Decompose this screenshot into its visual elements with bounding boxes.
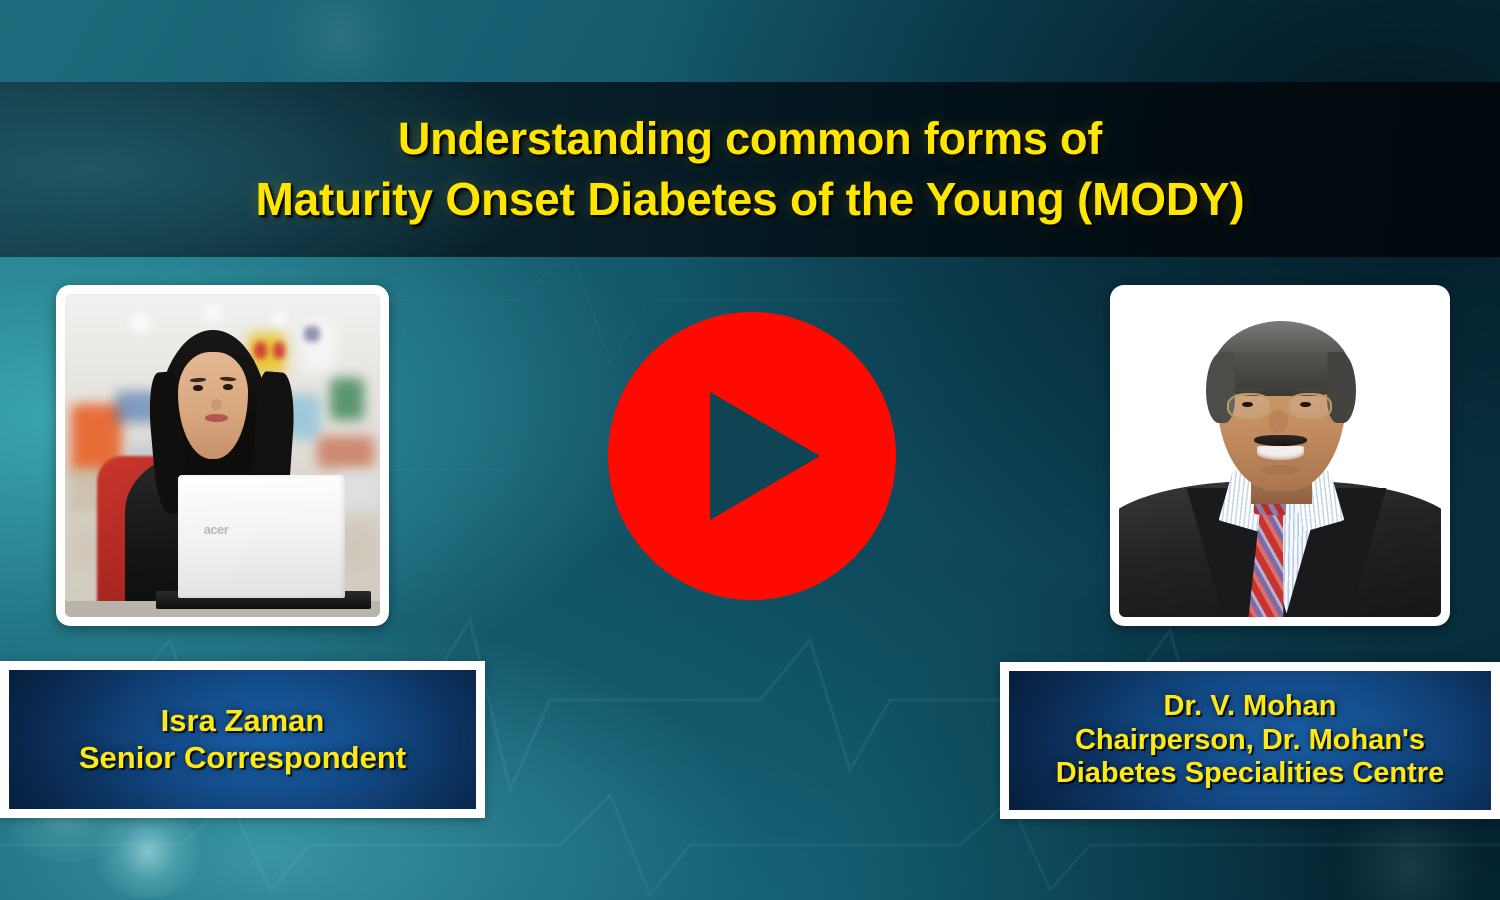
reporter-eye: [223, 384, 233, 389]
doctor-hair-right: [1327, 352, 1356, 423]
doctor-eyeglasses-bridge: [1272, 403, 1287, 405]
office-blur-blob: [254, 342, 267, 358]
office-blur-blob: [273, 342, 286, 358]
left-speaker-photo: acer: [65, 294, 380, 617]
left-speaker-photo-frame: acer: [56, 285, 389, 626]
title-line-1: Understanding common forms of: [398, 109, 1102, 168]
doctor-nose: [1269, 410, 1288, 433]
right-speaker-role-line-2: Diabetes Specialities Centre: [1056, 757, 1444, 791]
left-speaker-role: Senior Correspondent: [79, 740, 406, 776]
title-line-2: Maturity Onset Diabetes of the Young (MO…: [256, 169, 1245, 230]
office-blur-blob: [330, 378, 365, 420]
title-banner: Understanding common forms of Maturity O…: [0, 82, 1500, 257]
office-blur-blob: [304, 326, 320, 342]
right-speaker-nameplate: Dr. V. Mohan Chairperson, Dr. Mohan's Di…: [1000, 662, 1500, 819]
left-nameplate-inner: Isra Zaman Senior Correspondent: [9, 670, 476, 809]
doctor-mouth: [1257, 446, 1304, 460]
right-speaker-name: Dr. V. Mohan: [1164, 690, 1337, 724]
play-triangle-icon: [710, 392, 820, 520]
reporter-mouth: [205, 414, 228, 421]
right-speaker-role-line-1: Chairperson, Dr. Mohan's: [1075, 724, 1425, 758]
office-blur-blob: [317, 436, 374, 468]
doctor-moustache: [1254, 435, 1307, 446]
play-button[interactable]: [608, 312, 896, 600]
reporter-eye: [193, 385, 203, 390]
video-thumbnail-stage: Understanding common forms of Maturity O…: [0, 0, 1500, 900]
reporter-nose: [211, 399, 221, 409]
right-nameplate-inner: Dr. V. Mohan Chairperson, Dr. Mohan's Di…: [1009, 671, 1491, 810]
laptop-brand-logo: acer: [204, 522, 229, 537]
left-speaker-nameplate: Isra Zaman Senior Correspondent: [0, 661, 485, 818]
doctor-chin: [1261, 465, 1300, 475]
right-speaker-photo: [1119, 294, 1441, 617]
left-speaker-name: Isra Zaman: [161, 703, 325, 739]
right-speaker-photo-frame: [1110, 285, 1450, 626]
